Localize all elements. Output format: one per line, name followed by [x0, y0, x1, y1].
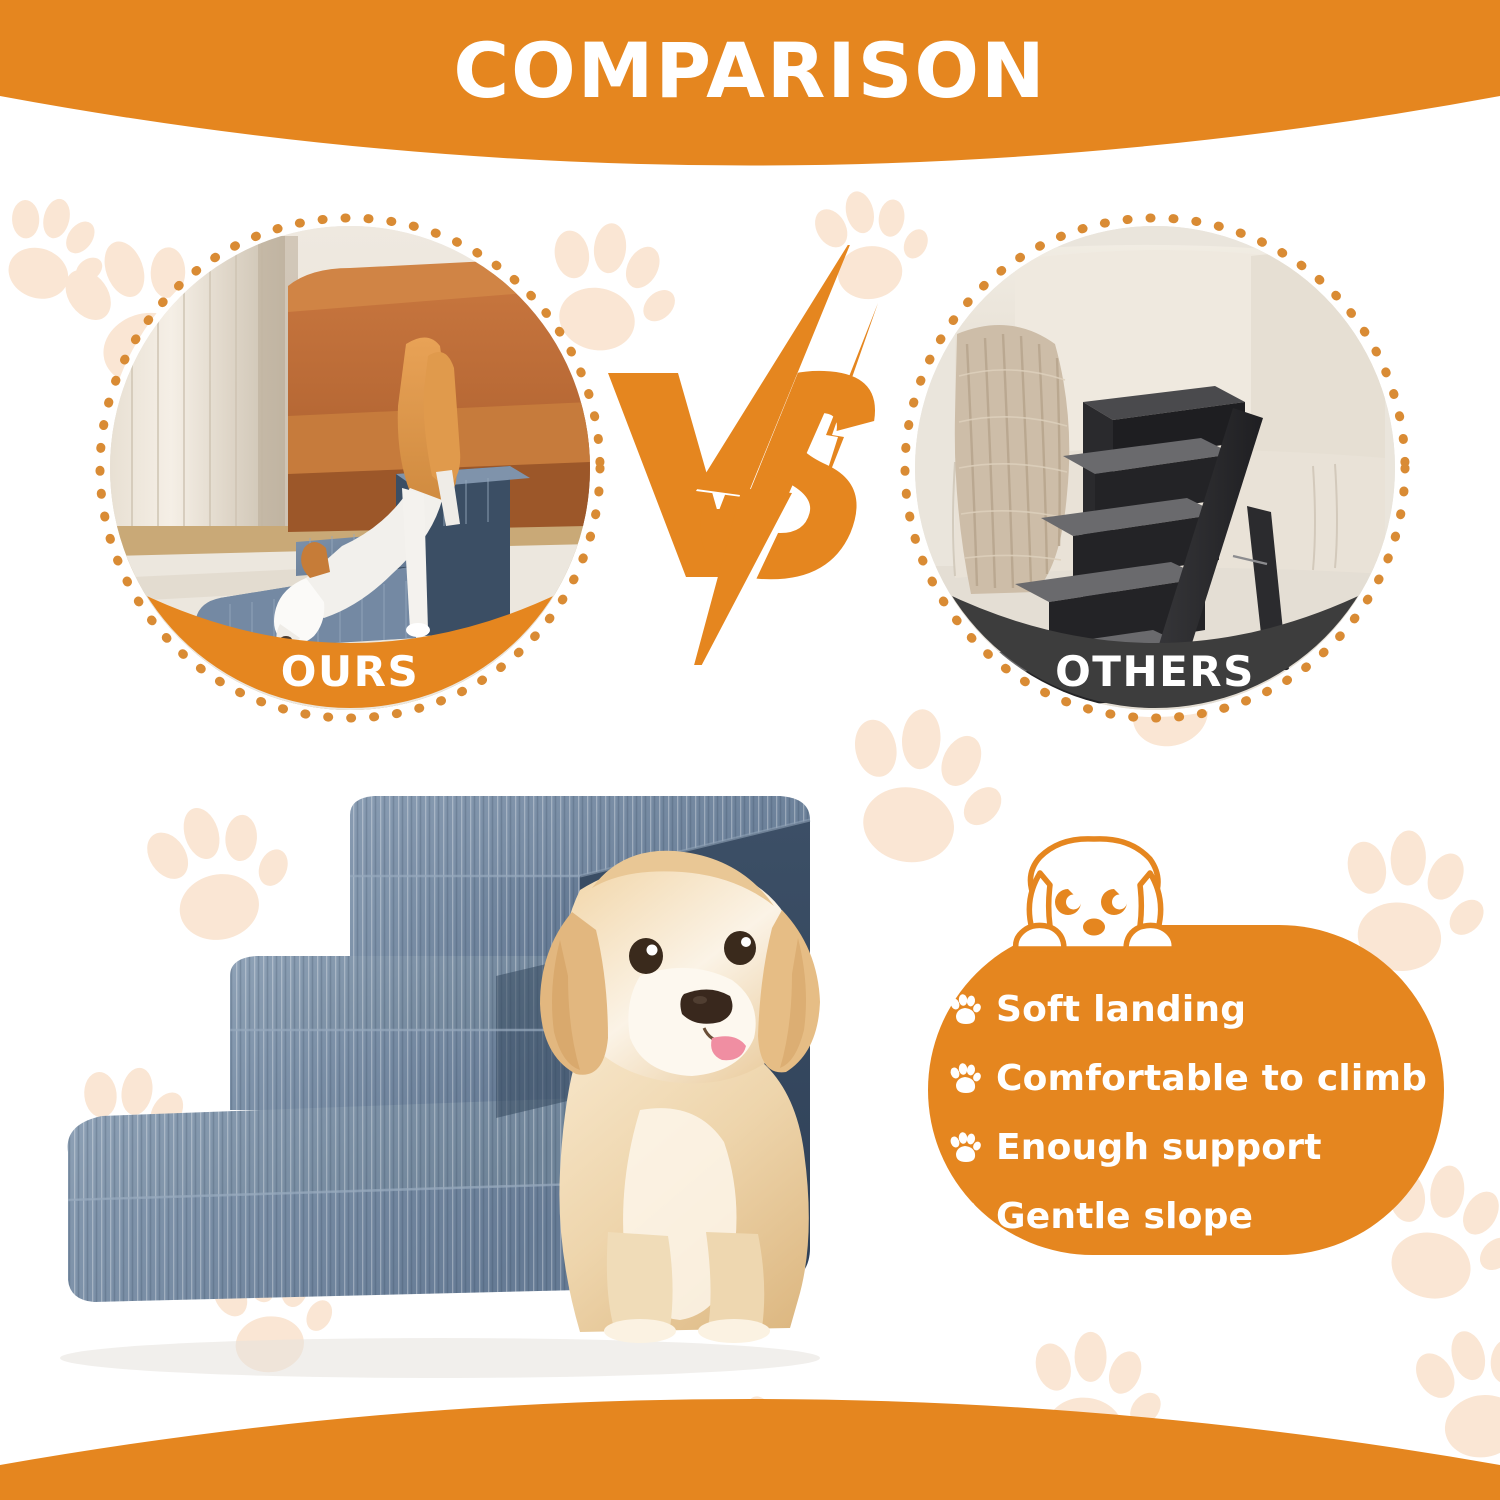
feature-item: Comfortable to climb	[948, 1044, 1448, 1113]
comparison-card-others[interactable]: OTHERS	[915, 226, 1395, 710]
feature-item: Enough support	[948, 1113, 1448, 1182]
footer-band	[0, 1375, 1500, 1500]
feature-label: Soft landing	[996, 989, 1246, 1030]
feature-item: Gentle slope	[948, 1182, 1448, 1251]
feature-label: Enough support	[996, 1127, 1322, 1168]
versus-icon	[600, 245, 910, 665]
paw-icon	[948, 993, 982, 1027]
hero-product-image	[20, 780, 940, 1380]
paw-icon	[948, 1062, 982, 1096]
badge-label-others: OTHERS	[915, 647, 1395, 696]
paw-icon	[948, 1131, 982, 1165]
feature-label: Comfortable to climb	[996, 1058, 1427, 1099]
page-title: COMPARISON	[0, 0, 1500, 140]
features-list: Soft landing Comfortable to climb Enough	[948, 975, 1448, 1251]
comparison-card-ours[interactable]: OURS	[110, 226, 590, 710]
badge-label-ours: OURS	[110, 647, 590, 696]
feature-item: Soft landing	[948, 975, 1448, 1044]
feature-label: Gentle slope	[996, 1196, 1253, 1237]
paw-icon	[948, 1200, 982, 1234]
dog-face-icon	[1010, 833, 1178, 963]
